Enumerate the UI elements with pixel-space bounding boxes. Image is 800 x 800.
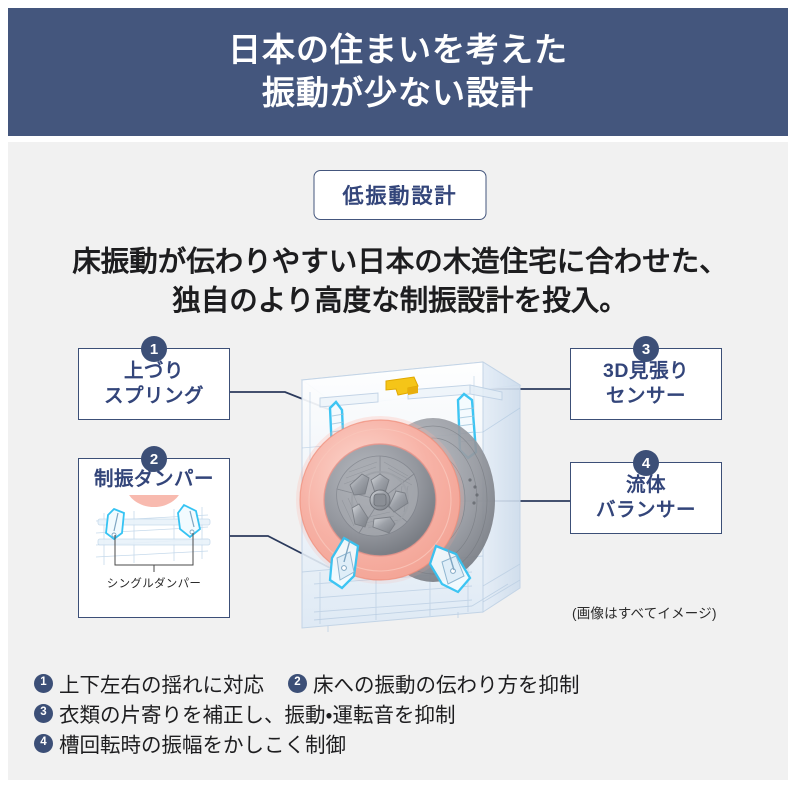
callout-label-1-line2: スプリング (104, 384, 204, 409)
legend-number-4: 4 (34, 734, 53, 753)
legend-number-2: 2 (288, 674, 307, 693)
lead-heading: 床振動が伝わりやすい日本の木造住宅に合わせた、 独自のより高度な制振設計を投入。 (0, 243, 800, 321)
damper-detail-caption: シングルダンパー (107, 575, 201, 591)
header-banner: 日本の住まいを考えた 振動が少ない設計 (8, 8, 788, 136)
callout-label-3-line1: 3D見張り (603, 359, 689, 384)
callout-number-1: 1 (141, 336, 167, 362)
damper-detail-illustration (90, 495, 218, 573)
legend-item-4: 4 槽回転時の振幅をかしこく制御 (34, 728, 346, 758)
header-title-line2: 振動が少ない設計 (262, 72, 534, 115)
callout-label-4-line1: 流体 (626, 473, 666, 498)
callout-number-2: 2 (141, 446, 167, 472)
callout-box-4: 4 流体 バランサー (570, 462, 722, 534)
legend-number-3: 3 (34, 704, 53, 723)
callout-number-3: 3 (633, 336, 659, 362)
infographic-page: 日本の住まいを考えた 振動が少ない設計 低振動設計 床振動が伝わりやすい日本の木… (0, 0, 800, 800)
legend-text-2: 床への振動の伝わり方を抑制 (313, 668, 580, 698)
legend-text-1: 上下左右の揺れに対応 (59, 668, 264, 698)
image-disclaimer: (画像はすべてイメージ) (572, 602, 717, 622)
legend-list: 1 上下左右の揺れに対応 2 床への振動の伝わり方を抑制 3 衣類の片寄りを補正… (34, 668, 774, 758)
lead-heading-line1: 床振動が伝わりやすい日本の木造住宅に合わせた、 (0, 243, 800, 282)
callout-box-3: 3 3D見張り センサー (570, 348, 722, 420)
lead-heading-line2: 独自のより高度な制振設計を投入。 (0, 282, 800, 321)
legend-text-4: 槽回転時の振幅をかしこく制御 (59, 728, 346, 758)
legend-item-2: 2 床への振動の伝わり方を抑制 (288, 668, 580, 698)
legend-row-2: 3 衣類の片寄りを補正し、振動・運転音を抑制 (34, 698, 774, 728)
washing-machine-illustration (258, 340, 548, 640)
legend-row-3: 4 槽回転時の振幅をかしこく制御 (34, 728, 774, 758)
legend-item-1: 1 上下左右の揺れに対応 (34, 668, 264, 698)
legend-row-1: 1 上下左右の揺れに対応 2 床への振動の伝わり方を抑制 (34, 668, 774, 698)
header-divider (8, 136, 788, 142)
callout-label-4-line2: バランサー (596, 498, 696, 523)
header-title-line1: 日本の住まいを考えた (228, 29, 568, 72)
callout-box-2: 2 制振ダンパー (78, 458, 230, 618)
callout-box-1: 1 上づり スプリング (78, 348, 230, 420)
callout-label-3-line2: センサー (606, 384, 686, 409)
legend-text-3: 衣類の片寄りを補正し、振動・運転音を抑制 (59, 698, 455, 728)
legend-item-3: 3 衣類の片寄りを補正し、振動・運転音を抑制 (34, 698, 455, 728)
legend-number-1: 1 (34, 674, 53, 693)
callout-label-1-line1: 上づり (124, 359, 184, 384)
section-badge: 低振動設計 (314, 170, 487, 220)
callout-number-4: 4 (633, 450, 659, 476)
